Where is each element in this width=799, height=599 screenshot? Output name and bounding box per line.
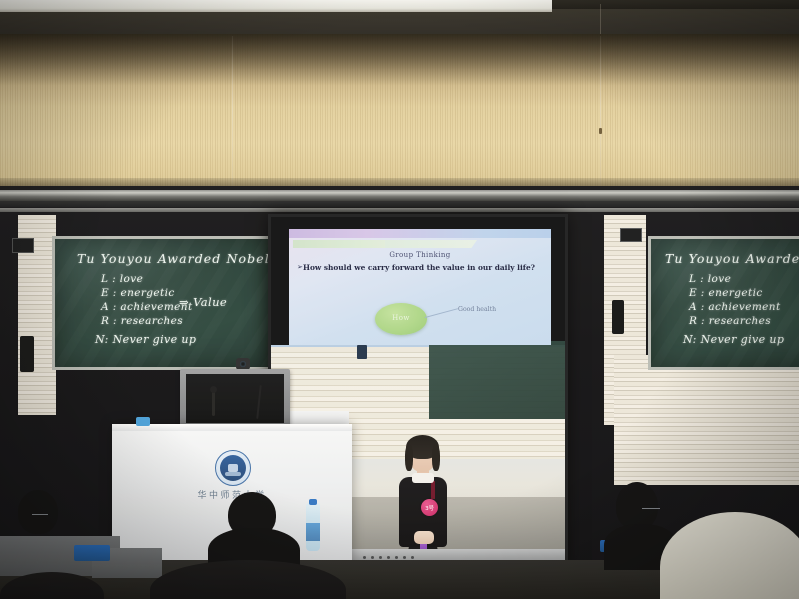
blackboard-left: Tu Youyou Awarded Nobel Prize L : love E… [52, 236, 273, 370]
lecture-hall-photo: Tu Youyou Awarded Nobel Prize L : love E… [0, 0, 799, 599]
wall-hook [599, 128, 602, 134]
wall-mount-bracket-right [612, 300, 624, 334]
board-rail-top [0, 190, 799, 201]
slide-ribbon-right [385, 240, 477, 248]
blackboard-right: Tu Youyou Awarded Nob L : love E : energ… [648, 236, 799, 370]
audience-glasses-left [32, 514, 48, 520]
display-button[interactable] [363, 556, 366, 559]
callout-line [425, 308, 458, 318]
slide-heading: Group Thinking [289, 251, 551, 259]
board-rail-shadow [0, 201, 799, 207]
presenter-hands [414, 531, 434, 544]
presenter-jacket-stripe [431, 481, 435, 499]
chalk-line-right-0: L : love [689, 273, 731, 285]
wall-control-panel-right[interactable] [620, 228, 642, 242]
bottle-label [306, 523, 320, 541]
wall-slats-far-right [614, 355, 799, 485]
crest-inner [220, 455, 246, 481]
display-blackboard-view [429, 341, 568, 419]
lecture-monitor[interactable] [180, 369, 290, 427]
chair-back-left [74, 545, 110, 561]
presenter-collar [412, 473, 434, 483]
display-button[interactable] [411, 556, 414, 559]
podium-blue-tag [136, 417, 150, 426]
ceiling-light-strip [0, 0, 552, 12]
display-button[interactable] [379, 556, 382, 559]
crest-mark-bottom [225, 472, 241, 476]
slide-callout: Good health [425, 308, 467, 318]
chalk-line-left-2: A : achievement [101, 301, 193, 313]
chalk-title-right: Tu Youyou Awarded Nob [665, 251, 799, 266]
wall-mount-bracket-left [20, 336, 34, 372]
audience-glasses-right [642, 508, 660, 514]
slide-bullet-icon: ➢ [297, 263, 303, 271]
badge-number: 3号 [421, 504, 438, 512]
ceiling-edge [552, 0, 799, 9]
slide-question: How should we carry forward the value in… [303, 263, 543, 273]
chalk-arrow-note-left: ⇒ Value [179, 295, 227, 309]
board-rail-highlight [0, 208, 799, 212]
display-button-row[interactable] [363, 556, 414, 559]
display-wall-sign-2 [357, 345, 367, 359]
bottle-cap [309, 499, 317, 505]
chalk-line-right-3: R : researches [689, 315, 771, 327]
monitor-screen [186, 374, 284, 423]
presenter-hair-left [405, 445, 413, 471]
audience-head-right [616, 482, 658, 530]
crest-mark-top [228, 464, 238, 472]
wood-panel-wall [0, 34, 799, 186]
chalk-line-right-4: N: Never give up [683, 333, 784, 346]
presenter-number-badge: 3号 [421, 499, 438, 516]
display-button[interactable] [403, 556, 406, 559]
slide-bubble-label: How [375, 314, 427, 322]
chalk-line-left-4: N: Never give up [95, 333, 196, 346]
slide-top-bar [289, 229, 551, 238]
slide-bubble: How [375, 303, 427, 335]
microphone [212, 390, 215, 416]
audience-head-left [18, 490, 58, 534]
slide-ribbon-left [293, 240, 385, 248]
chalk-line-right-2: A : achievement [689, 301, 781, 313]
chalk-line-left-3: R : researches [101, 315, 183, 327]
chalk-line-left-0: L : love [101, 273, 143, 285]
wall-seam-left [232, 36, 233, 186]
display-button[interactable] [371, 556, 374, 559]
chalk-line-right-1: E : energetic [689, 287, 763, 299]
university-crest-icon [215, 450, 251, 486]
presenter-hair-right [432, 445, 440, 471]
display-button[interactable] [387, 556, 390, 559]
chalk-title-left: Tu Youyou Awarded Nobel Prize [77, 251, 273, 266]
callout-label: Good health [458, 306, 496, 313]
wall-control-panel-left[interactable] [12, 238, 34, 253]
wall-seam-right [600, 36, 601, 186]
slide: Group Thinking ➢ How should we carry for… [289, 229, 551, 345]
chalk-line-left-1: E : energetic [101, 287, 175, 299]
display-button[interactable] [395, 556, 398, 559]
